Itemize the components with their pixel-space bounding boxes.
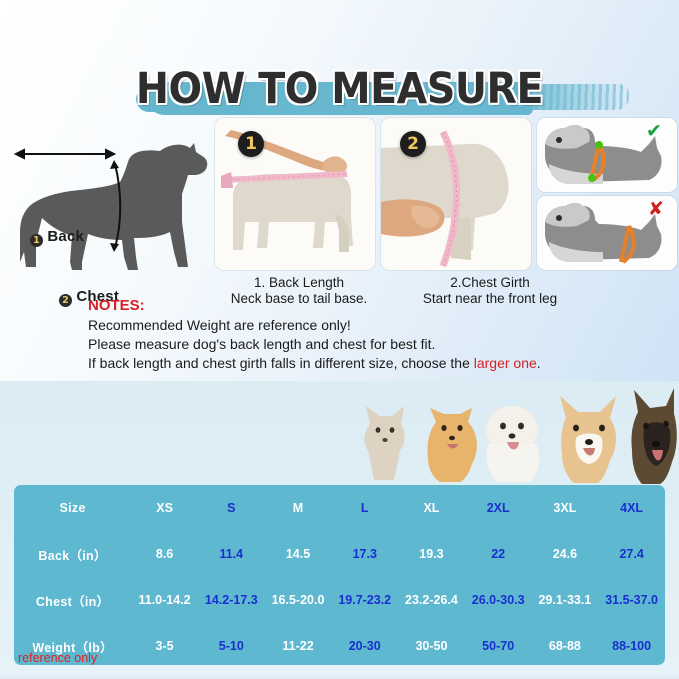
reference-only-footnote: reference only [18,651,97,665]
cell-weight-xl: 30-50 [398,639,465,653]
notes-highlight: larger one [474,355,537,371]
measurement-diagram: 1 Back 2 Chest [2,112,214,282]
cell-size-xs: XS [131,501,198,515]
photo-badge-one: 1 [238,131,264,157]
size-table: Size XS S M L XL 2XL 3XL 4XL Back（in） 8.… [14,485,665,665]
top-section: HOW TO MEASURE [0,0,679,381]
cell-back-xl: 19.3 [398,547,465,561]
page-title: HOW TO MEASURE [27,64,652,114]
notes-block: NOTES: Recommended Weight are reference … [88,296,648,373]
cell-weight-l: 20-30 [331,639,398,653]
cell-size-2xl: 2XL [465,501,532,515]
notes-line-1: Recommended Weight are reference only! [88,316,648,335]
checkmark-icon: ✔ [646,120,662,143]
caption-back-line1: 1. Back Length [213,275,385,291]
row-label-chest: Chest（in） [14,591,131,610]
cell-chest-2xl: 26.0-30.3 [465,593,532,607]
back-measure-label: 1 Back [30,228,84,247]
table-row-chest: Chest（in） 11.0-14.2 14.2-17.3 16.5-20.0 … [14,585,665,615]
cell-chest-xs: 11.0-14.2 [131,593,198,607]
cell-chest-l: 19.7-23.2 [331,593,398,607]
cell-size-3xl: 3XL [532,501,599,515]
title-banner: HOW TO MEASURE [0,30,679,100]
cell-weight-3xl: 68-88 [532,639,599,653]
table-row-weight: Weight（lb） 3-5 5-10 11-22 20-30 30-50 50… [14,631,665,661]
cell-back-l: 17.3 [331,547,398,561]
cell-size-4xl: 4XL [598,501,665,515]
notes-line-3-pre: If back length and chest girth falls in … [88,355,474,371]
cell-chest-4xl: 31.5-37.0 [598,593,665,607]
cell-chest-s: 14.2-17.3 [198,593,265,607]
crossmark-icon: ✘ [648,198,664,221]
cell-chest-3xl: 29.1-33.1 [532,593,599,607]
notes-line-3-post: . [537,355,541,371]
notes-line-3: If back length and chest girth falls in … [88,354,648,373]
cell-back-m: 14.5 [265,547,332,561]
row-label-back: Back（in） [14,545,131,564]
cell-weight-s: 5-10 [198,639,265,653]
table-row-size: Size XS S M L XL 2XL 3XL 4XL [14,493,665,523]
cell-back-xs: 8.6 [131,547,198,561]
cell-size-s: S [198,501,265,515]
cell-back-4xl: 27.4 [598,547,665,561]
badge-one-icon: 1 [30,234,43,247]
cell-weight-m: 11-22 [265,639,332,653]
back-label-text: Back [47,228,84,245]
cell-size-l: L [331,501,398,515]
cell-back-3xl: 24.6 [532,547,599,561]
cell-size-m: M [265,501,332,515]
size-chart-infographic: HOW TO MEASURE [0,0,679,679]
table-row-back: Back（in） 8.6 11.4 14.5 17.3 19.3 22 24.6… [14,539,665,569]
photo-badge-two: 2 [400,131,426,157]
dog-size-photo-strip [352,388,679,484]
cell-weight-2xl: 50-70 [465,639,532,653]
badge-two-icon: 2 [59,294,72,307]
notes-title: NOTES: [88,296,648,316]
cell-back-2xl: 22 [465,547,532,561]
cell-chest-m: 16.5-20.0 [265,593,332,607]
cell-weight-4xl: 88-100 [598,639,665,653]
cell-chest-xl: 23.2-26.4 [398,593,465,607]
notes-line-2: Please measure dog's back length and che… [88,335,648,354]
row-label-size: Size [14,501,131,515]
cell-size-xl: XL [398,501,465,515]
cell-weight-xs: 3-5 [131,639,198,653]
cell-back-s: 11.4 [198,547,265,561]
caption-chest-line1: 2.Chest Girth [400,275,580,291]
